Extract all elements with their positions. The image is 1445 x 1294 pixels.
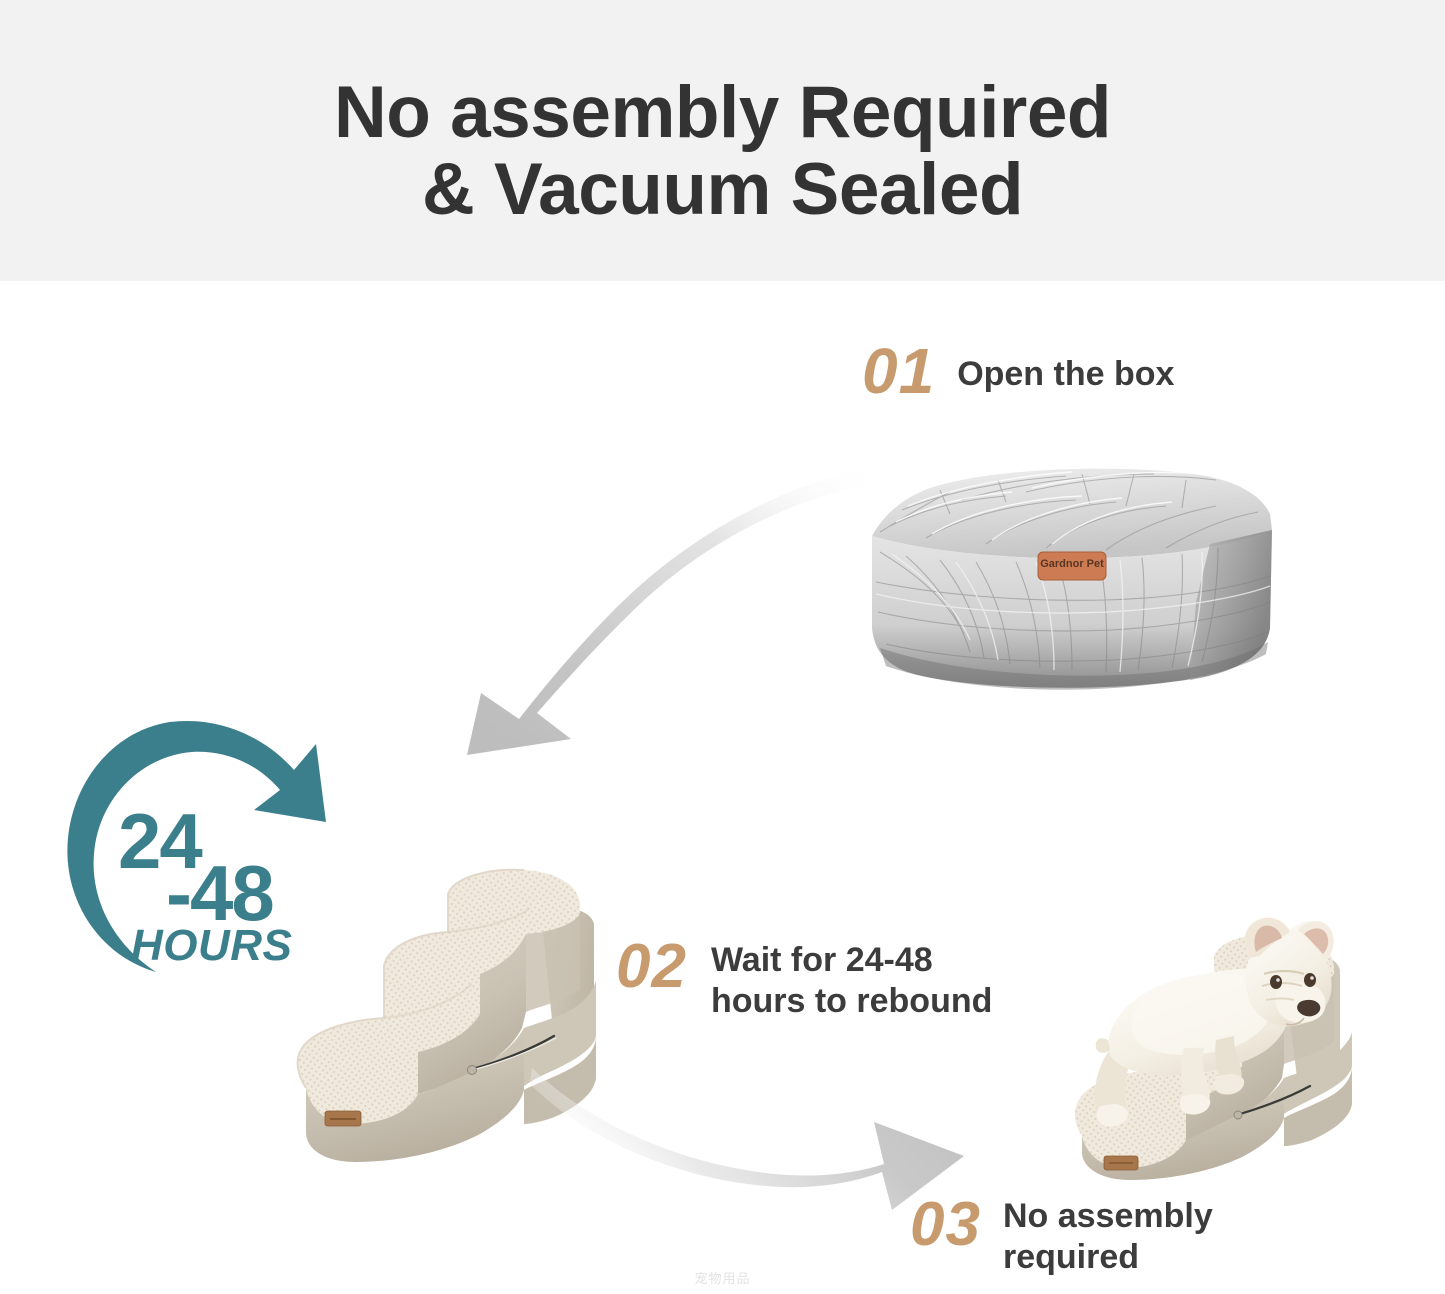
flow-arrow-1: [395, 455, 875, 755]
infographic-page: No assembly Required & Vacuum Sealed 01 …: [0, 0, 1445, 1294]
header-band: No assembly Required & Vacuum Sealed: [0, 0, 1445, 281]
step-text-02: Wait for 24-48 hours to rebound: [711, 940, 992, 1022]
step-number-02: 02: [616, 938, 687, 996]
stairs-brand-tag-2: [1104, 1156, 1138, 1170]
step-label-03: 03 No assembly required: [910, 1196, 1213, 1278]
step-label-02: 02 Wait for 24-48 hours to rebound: [616, 938, 992, 1022]
vacuum-sealed-package: Gardnor Pet: [866, 452, 1276, 698]
page-title: No assembly Required & Vacuum Sealed: [0, 74, 1445, 228]
curved-arrow-down-left-icon: [395, 455, 875, 755]
package-brand-text: Gardnor Pet: [1038, 558, 1106, 570]
step-label-01: 01 Open the box: [862, 342, 1174, 400]
step-text-01: Open the box: [957, 354, 1174, 395]
step-number-01: 01: [862, 342, 935, 400]
step-text-03: No assembly required: [1003, 1196, 1213, 1278]
watermark: 宠物用品: [0, 1268, 1445, 1287]
step-number-03: 03: [910, 1196, 981, 1254]
french-bulldog-on-pet-stairs: [1064, 900, 1404, 1185]
vacuum-package-illustration: [866, 452, 1276, 698]
dog-on-stairs-illustration: [1064, 900, 1404, 1185]
stairs-brand-tag: [325, 1111, 361, 1126]
hours-unit-label: HOURS: [131, 924, 292, 968]
